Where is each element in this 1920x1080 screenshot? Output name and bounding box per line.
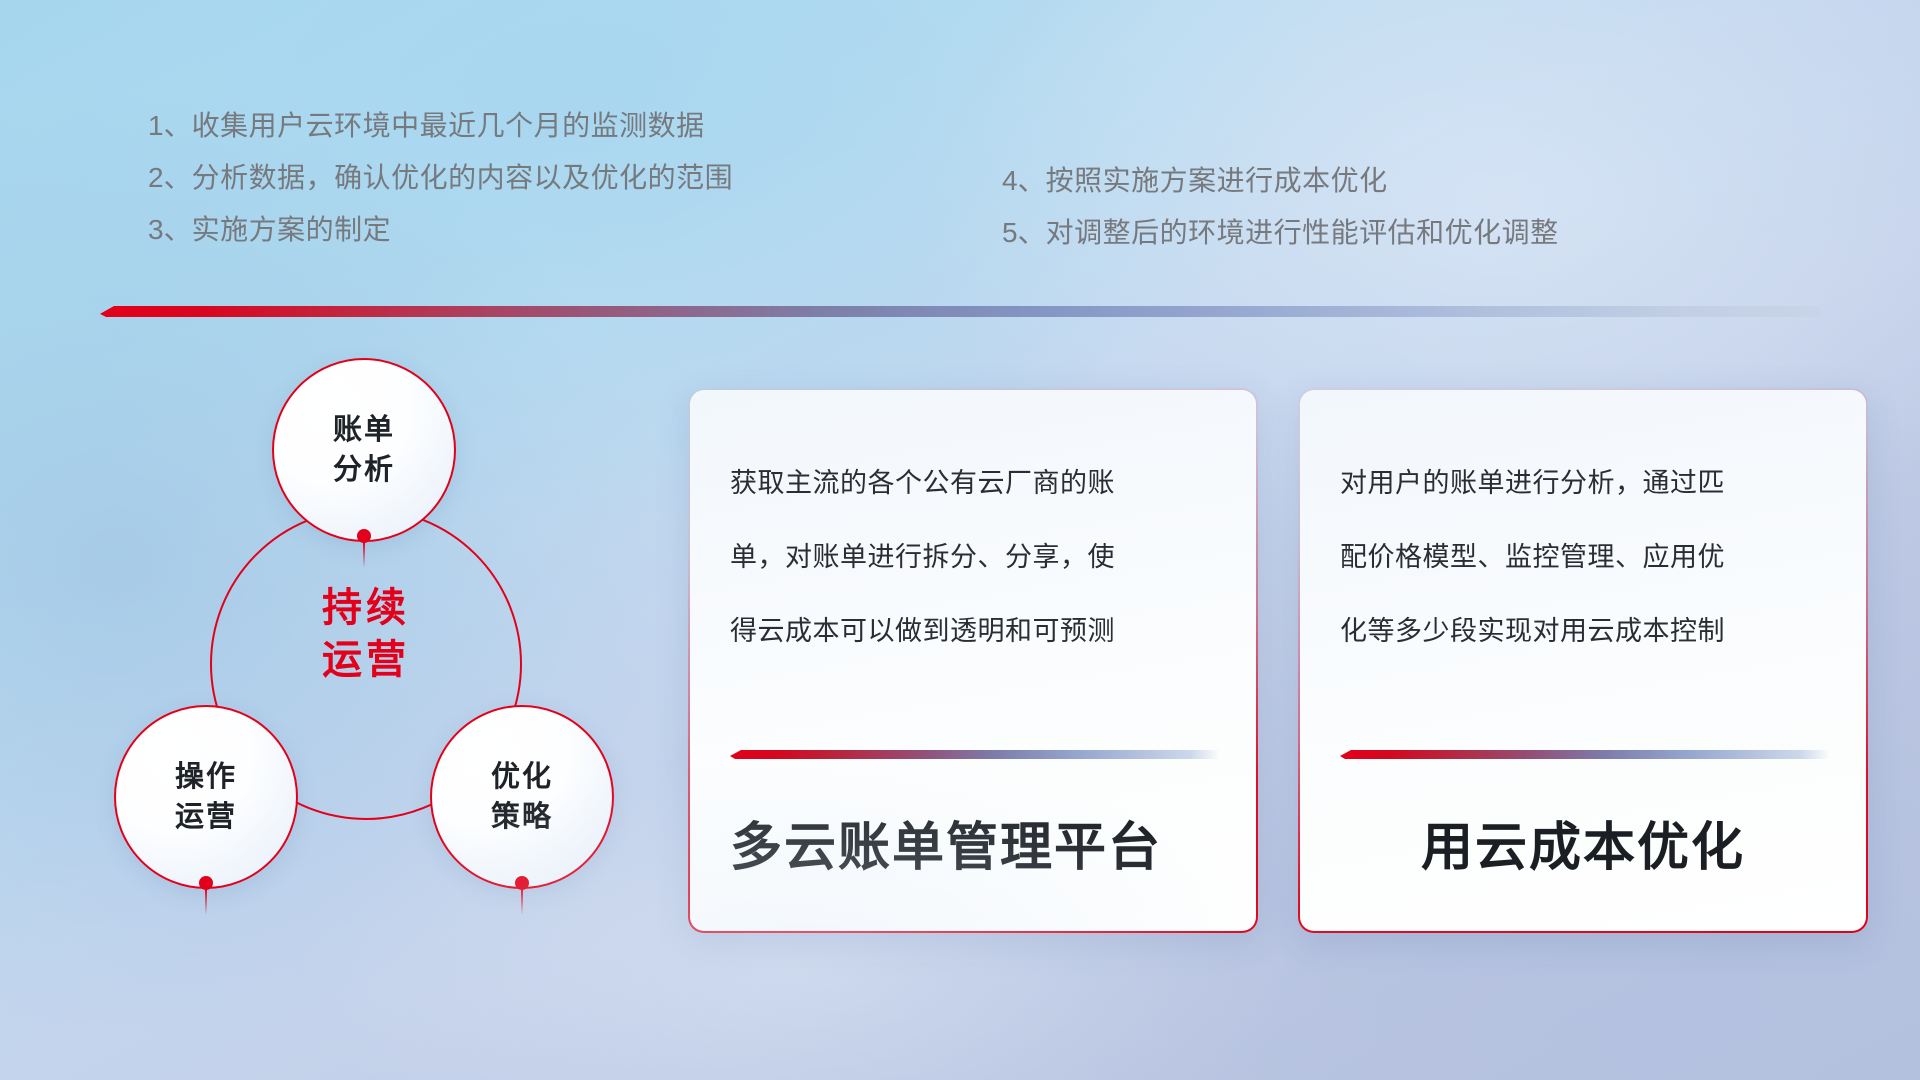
card-1-title: 多云账单管理平台 bbox=[730, 817, 1162, 879]
bubble-left-line2: 运营 bbox=[175, 797, 237, 837]
step-number-3: 3、 bbox=[148, 214, 192, 245]
card-1-body-line1: 获取主流的各个公有云厂商的账 bbox=[730, 446, 1216, 520]
step-item-1: 1、收集用户云环境中最近几个月的监测数据 bbox=[148, 100, 733, 152]
steps-list-right: 4、按照实施方案进行成本优化 5、对调整后的环境进行性能评估和优化调整 bbox=[1002, 155, 1559, 259]
node-dot-left bbox=[199, 876, 213, 890]
node-dot-right bbox=[515, 876, 529, 890]
step-item-3: 3、实施方案的制定 bbox=[148, 204, 733, 256]
section-divider bbox=[100, 306, 1820, 317]
slide-canvas: 1、收集用户云环境中最近几个月的监测数据 2、分析数据，确认优化的内容以及优化的… bbox=[0, 0, 1920, 1080]
node-dot-top bbox=[357, 529, 371, 543]
venn-bubble-operations[interactable]: 操作 运营 bbox=[114, 705, 298, 889]
step-text-1: 收集用户云环境中最近几个月的监测数据 bbox=[192, 110, 705, 141]
card-1-body-line2: 单，对账单进行拆分、分享，使 bbox=[730, 520, 1216, 594]
center-label-line2: 运营 bbox=[210, 634, 522, 686]
bubble-left-line1: 操作 bbox=[175, 757, 237, 797]
card-1-accent-bar bbox=[730, 750, 1220, 759]
feature-card-cost-optimization[interactable]: 对用户的账单进行分析，通过匹 配价格模型、监控管理、应用优 化等多少段实现对用云… bbox=[1298, 388, 1868, 933]
step-number-2: 2、 bbox=[148, 162, 192, 193]
step-item-2: 2、分析数据，确认优化的内容以及优化的范围 bbox=[148, 152, 733, 204]
step-text-5: 对调整后的环境进行性能评估和优化调整 bbox=[1046, 217, 1559, 248]
bubble-right-line2: 策略 bbox=[491, 797, 553, 837]
step-item-4: 4、按照实施方案进行成本优化 bbox=[1002, 155, 1559, 207]
card-2-accent-bar bbox=[1340, 750, 1830, 759]
step-item-5: 5、对调整后的环境进行性能评估和优化调整 bbox=[1002, 207, 1559, 259]
connector-tail-top bbox=[363, 542, 365, 568]
card-2-title: 用云成本优化 bbox=[1300, 817, 1866, 879]
card-2-body-line1: 对用户的账单进行分析，通过匹 bbox=[1340, 446, 1826, 520]
step-number-1: 1、 bbox=[148, 110, 192, 141]
card-1-body: 获取主流的各个公有云厂商的账 单，对账单进行拆分、分享，使 得云成本可以做到透明… bbox=[730, 446, 1216, 668]
card-2-body-line3: 化等多少段实现对用云成本控制 bbox=[1340, 594, 1826, 668]
card-1-body-line3: 得云成本可以做到透明和可预测 bbox=[730, 594, 1216, 668]
card-inner: 获取主流的各个公有云厂商的账 单，对账单进行拆分、分享，使 得云成本可以做到透明… bbox=[690, 390, 1256, 931]
steps-list-left: 1、收集用户云环境中最近几个月的监测数据 2、分析数据，确认优化的内容以及优化的… bbox=[148, 100, 733, 256]
card-2-body: 对用户的账单进行分析，通过匹 配价格模型、监控管理、应用优 化等多少段实现对用云… bbox=[1340, 446, 1826, 668]
step-text-2: 分析数据，确认优化的内容以及优化的范围 bbox=[192, 162, 734, 193]
connector-tail-right bbox=[521, 889, 523, 915]
bubble-top-line1: 账单 bbox=[333, 410, 395, 450]
center-label-line1: 持续 bbox=[210, 582, 522, 634]
center-label: 持续 运营 bbox=[210, 582, 522, 686]
venn-bubble-billing-analysis[interactable]: 账单 分析 bbox=[272, 358, 456, 542]
step-text-4: 按照实施方案进行成本优化 bbox=[1046, 165, 1388, 196]
venn-bubble-optimization-strategy[interactable]: 优化 策略 bbox=[430, 705, 614, 889]
step-text-3: 实施方案的制定 bbox=[192, 214, 392, 245]
step-number-4: 4、 bbox=[1002, 165, 1046, 196]
card-inner: 对用户的账单进行分析，通过匹 配价格模型、监控管理、应用优 化等多少段实现对用云… bbox=[1300, 390, 1866, 931]
bubble-right-line1: 优化 bbox=[491, 757, 553, 797]
step-number-5: 5、 bbox=[1002, 217, 1046, 248]
card-2-body-line2: 配价格模型、监控管理、应用优 bbox=[1340, 520, 1826, 594]
bubble-top-line2: 分析 bbox=[333, 450, 395, 490]
feature-card-multicloud-billing[interactable]: 获取主流的各个公有云厂商的账 单，对账单进行拆分、分享，使 得云成本可以做到透明… bbox=[688, 388, 1258, 933]
venn-diagram: 持续 运营 账单 分析 操作 运营 优化 策略 bbox=[100, 350, 660, 970]
connector-tail-left bbox=[205, 889, 207, 915]
